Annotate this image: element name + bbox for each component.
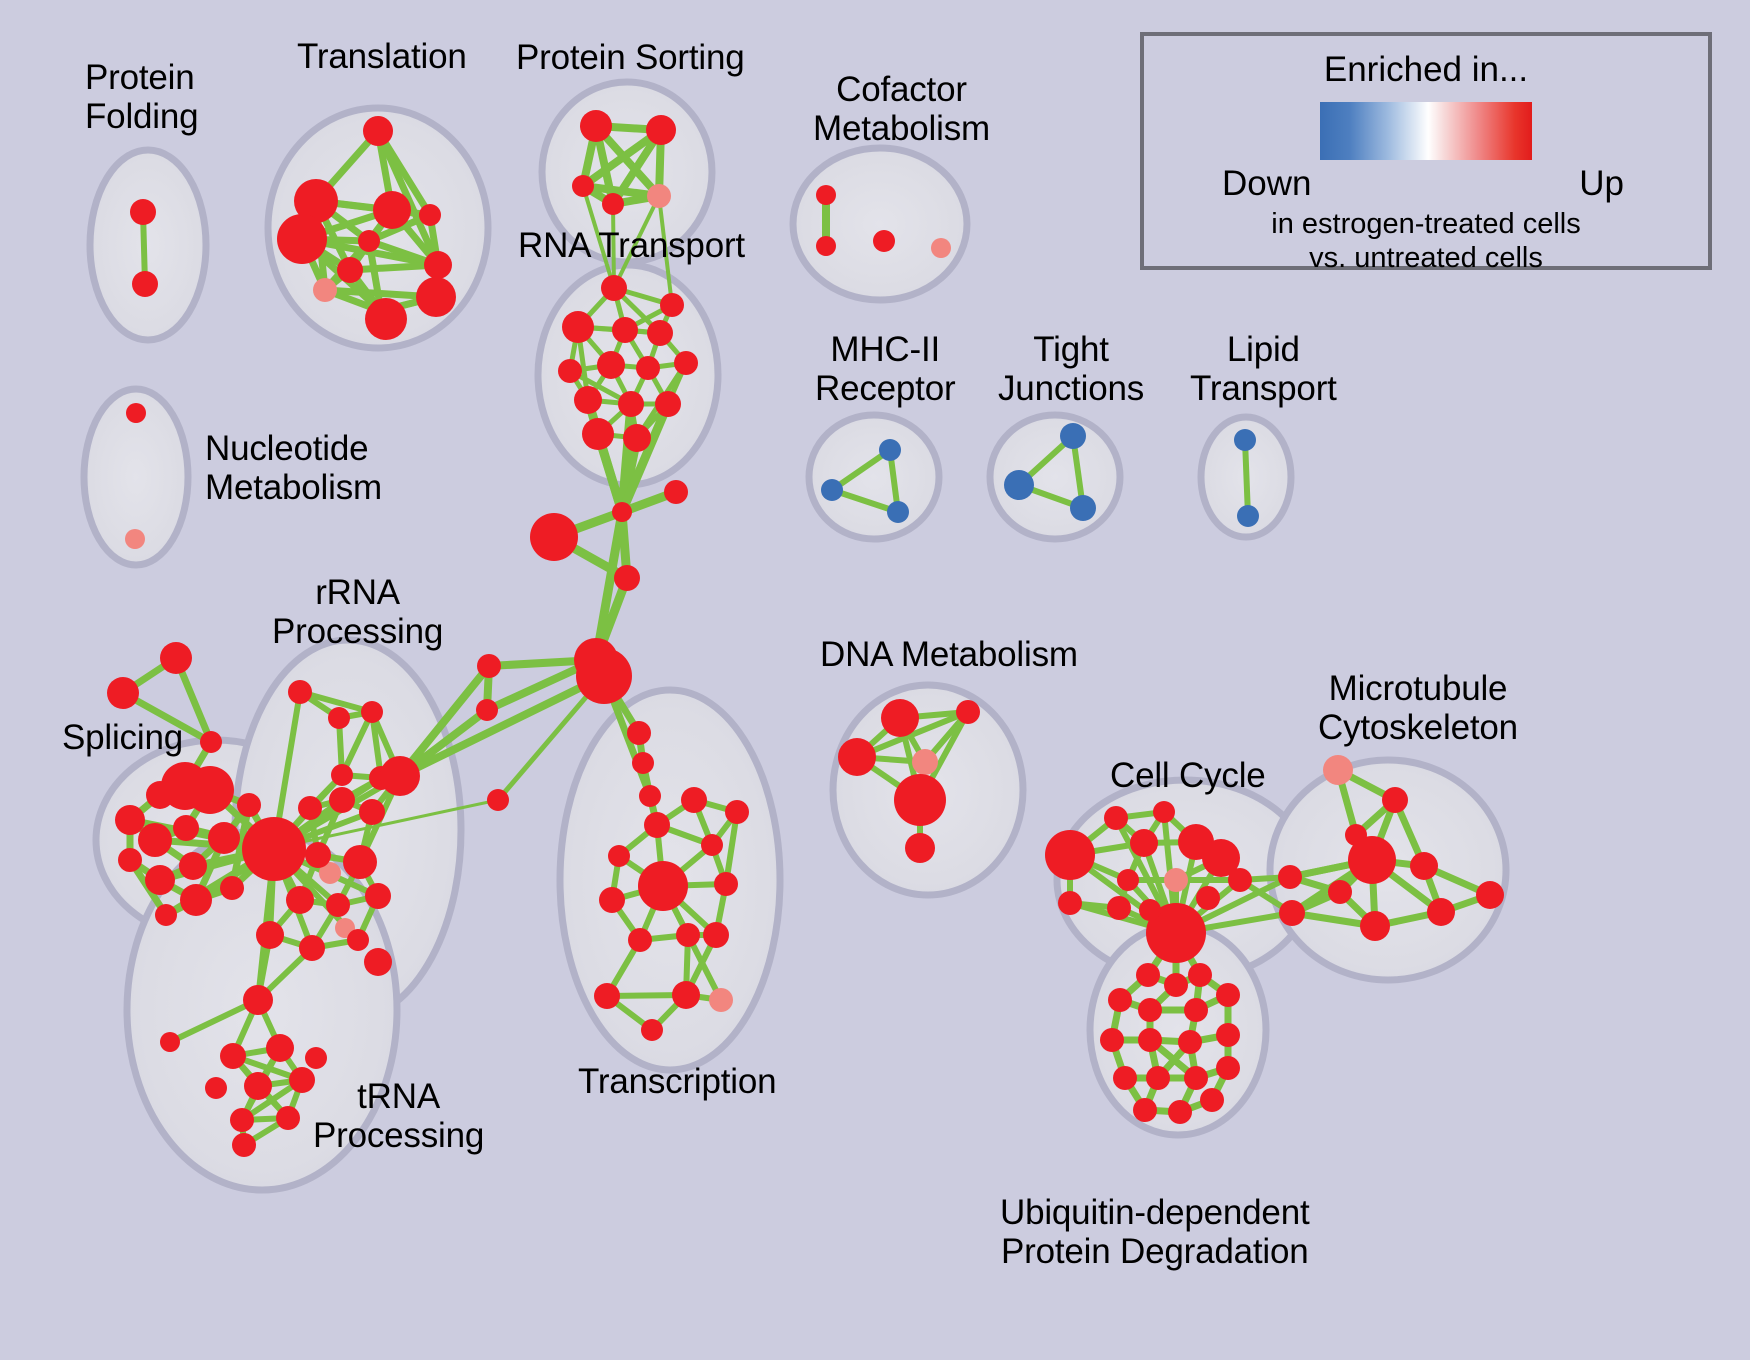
node	[530, 513, 578, 561]
cluster-label-trna-processing: tRNA Processing	[313, 1077, 484, 1155]
node	[276, 1106, 300, 1130]
node	[132, 271, 158, 297]
node	[365, 298, 407, 340]
legend-subtitle-line-2: vs. untreated cells	[1144, 242, 1708, 275]
node	[597, 351, 625, 379]
node	[664, 480, 688, 504]
node	[905, 833, 935, 863]
node	[821, 479, 843, 501]
node	[614, 565, 640, 591]
node	[1133, 1098, 1157, 1122]
node	[641, 1019, 663, 1041]
node	[220, 876, 244, 900]
node	[1108, 988, 1132, 1012]
enrichment-map-figure: Protein Folding Translation Protein Sort…	[0, 0, 1750, 1360]
cluster-label-dna-metabolism: DNA Metabolism	[820, 635, 1078, 674]
node	[359, 799, 385, 825]
node	[639, 785, 661, 807]
node	[816, 236, 836, 256]
node	[636, 356, 660, 380]
node	[647, 184, 671, 208]
node	[1113, 1066, 1137, 1090]
cluster-label-ubiquitin-degradation: Ubiquitin-dependent Protein Degradation	[1000, 1193, 1310, 1271]
node	[1070, 495, 1096, 521]
node	[714, 872, 738, 896]
node	[931, 238, 951, 258]
node	[632, 752, 654, 774]
node	[1178, 1030, 1202, 1054]
node	[328, 707, 350, 729]
node	[145, 865, 175, 895]
cluster-label-protein-folding: Protein Folding	[85, 58, 198, 136]
node	[146, 781, 174, 809]
node	[681, 787, 707, 813]
cluster-label-rrna-processing: rRNA Processing	[272, 573, 443, 651]
node	[873, 230, 895, 252]
cluster-label-transcription: Transcription	[578, 1062, 776, 1101]
node	[1045, 830, 1095, 880]
legend-up-label: Up	[1579, 164, 1624, 204]
legend-color-gradient-bar	[1320, 102, 1532, 160]
node	[424, 251, 452, 279]
node	[126, 403, 146, 423]
cluster-label-cell-cycle: Cell Cycle	[1110, 756, 1266, 795]
node	[200, 731, 222, 753]
node	[1200, 1088, 1224, 1112]
node	[1139, 899, 1161, 921]
node	[205, 1077, 227, 1099]
node	[725, 800, 749, 824]
node	[672, 981, 700, 1009]
legend-down-label: Down	[1222, 164, 1311, 204]
cluster-label-rna-transport: RNA Transport	[518, 226, 745, 265]
node	[1216, 1056, 1240, 1080]
node	[363, 116, 393, 146]
cluster-label-nucleotide-metabolism: Nucleotide Metabolism	[205, 429, 382, 507]
node	[364, 948, 392, 976]
node	[278, 835, 298, 855]
node	[160, 642, 192, 674]
node	[612, 317, 638, 343]
node	[582, 418, 614, 450]
node	[419, 204, 441, 226]
node	[186, 766, 234, 814]
node	[1164, 868, 1188, 892]
node	[701, 834, 723, 856]
node	[1237, 505, 1259, 527]
node	[337, 257, 363, 283]
node	[612, 502, 632, 522]
node	[208, 822, 240, 854]
node	[627, 721, 651, 745]
node	[1138, 998, 1162, 1022]
node	[601, 275, 627, 301]
legend-box: Enriched in... Down Up in estrogen-treat…	[1140, 32, 1712, 270]
node	[879, 439, 901, 461]
node	[115, 805, 145, 835]
node	[956, 700, 980, 724]
node	[1278, 865, 1302, 889]
node	[1188, 963, 1212, 987]
node	[638, 861, 688, 911]
node	[1216, 1023, 1240, 1047]
node	[599, 887, 625, 913]
node	[558, 359, 582, 383]
node	[1360, 911, 1390, 941]
node	[256, 921, 284, 949]
node	[130, 199, 156, 225]
node	[1279, 900, 1305, 926]
node	[305, 1047, 327, 1069]
node	[1107, 896, 1131, 920]
node	[1153, 801, 1175, 823]
node	[365, 883, 391, 909]
node	[1060, 423, 1086, 449]
node	[1164, 973, 1188, 997]
node	[160, 1032, 180, 1052]
node	[887, 501, 909, 523]
node	[243, 985, 273, 1015]
node	[1476, 881, 1504, 909]
node	[313, 278, 337, 302]
node	[286, 886, 314, 914]
hull-protein-folding	[90, 150, 206, 340]
node	[644, 812, 670, 838]
node	[266, 1034, 294, 1062]
node	[173, 815, 199, 841]
node	[602, 193, 624, 215]
node	[1328, 880, 1352, 904]
node	[1410, 852, 1438, 880]
node	[298, 796, 322, 820]
cluster-label-splicing: Splicing	[62, 718, 183, 757]
node	[1234, 429, 1256, 451]
node	[1168, 1100, 1192, 1124]
node	[326, 893, 350, 917]
node	[237, 793, 261, 817]
node	[343, 845, 377, 879]
node	[576, 648, 632, 704]
legend-subtitle-line-1: in estrogen-treated cells	[1144, 208, 1708, 241]
node	[647, 320, 673, 346]
node	[1184, 998, 1208, 1022]
node	[1100, 1028, 1124, 1052]
node	[838, 738, 876, 776]
node	[244, 1072, 272, 1100]
node	[299, 935, 325, 961]
node	[1382, 787, 1408, 813]
cluster-label-translation: Translation	[297, 37, 467, 76]
node	[655, 391, 681, 417]
node	[1104, 806, 1128, 830]
node	[594, 983, 620, 1009]
node	[155, 904, 177, 926]
node	[305, 842, 331, 868]
node	[912, 749, 938, 775]
legend-title: Enriched in...	[1144, 50, 1708, 90]
node	[476, 699, 498, 721]
node	[179, 852, 207, 880]
node	[646, 115, 676, 145]
node	[361, 701, 383, 723]
node	[329, 787, 355, 813]
hull-mhc	[809, 415, 939, 539]
node	[628, 928, 652, 952]
node	[180, 884, 212, 916]
node	[1184, 1066, 1208, 1090]
cluster-label-lipid-transport: Lipid Transport	[1190, 330, 1337, 408]
node	[1136, 963, 1160, 987]
node	[1427, 898, 1455, 926]
node	[1196, 886, 1220, 910]
node	[107, 677, 139, 709]
node	[487, 789, 509, 811]
node	[1323, 755, 1353, 785]
node	[477, 654, 501, 678]
node	[674, 351, 698, 375]
node	[572, 175, 594, 197]
cluster-label-tight-junctions: Tight Junctions	[998, 330, 1144, 408]
node	[373, 191, 411, 229]
node	[1146, 1066, 1170, 1090]
cluster-label-protein-sorting: Protein Sorting	[516, 38, 745, 77]
node	[580, 110, 612, 142]
node	[232, 1133, 256, 1157]
node	[125, 529, 145, 549]
node	[618, 391, 644, 417]
cluster-label-mhc-ii-receptor: MHC-II Receptor	[815, 330, 955, 408]
node	[1228, 868, 1252, 892]
node	[380, 756, 420, 796]
node	[416, 277, 456, 317]
node	[1058, 891, 1082, 915]
node	[660, 293, 684, 317]
node	[358, 230, 380, 252]
node	[1348, 836, 1396, 884]
node	[138, 823, 172, 857]
node	[676, 923, 700, 947]
node	[288, 680, 312, 704]
cluster-label-cofactor-metabolism: Cofactor Metabolism	[813, 70, 990, 148]
node	[118, 848, 142, 872]
node	[562, 311, 594, 343]
node	[331, 764, 353, 786]
node	[894, 774, 946, 826]
node	[703, 922, 729, 948]
node	[1117, 869, 1139, 891]
node	[289, 1067, 315, 1093]
node	[816, 185, 836, 205]
node	[230, 1108, 254, 1132]
cluster-label-microtubule-cytoskeleton: Microtubule Cytoskeleton	[1318, 669, 1518, 747]
node	[1138, 1028, 1162, 1052]
node	[1130, 829, 1158, 857]
hull-cofactor	[793, 148, 967, 300]
node	[623, 424, 651, 452]
node	[1216, 983, 1240, 1007]
node	[1004, 470, 1034, 500]
node	[574, 386, 602, 414]
node	[347, 929, 369, 951]
node	[277, 214, 327, 264]
node	[220, 1043, 246, 1069]
node	[709, 988, 733, 1012]
node	[881, 699, 919, 737]
node	[608, 845, 630, 867]
